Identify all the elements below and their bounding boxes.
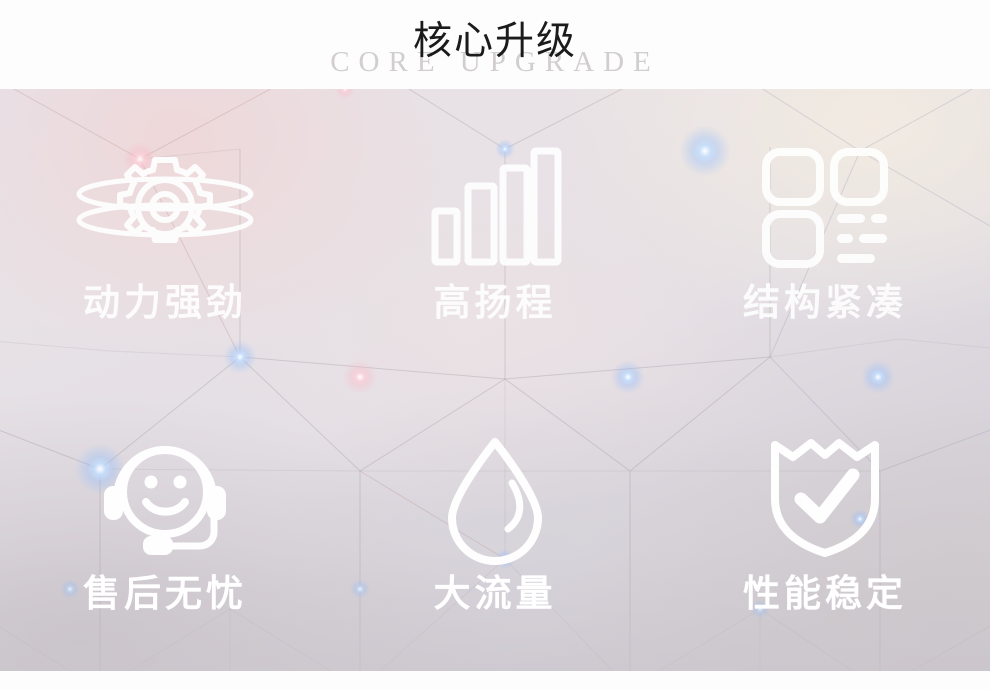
feature-item-compact[interactable]: 结构紧凑 [660,89,990,380]
shield-check-icon [767,439,883,557]
feature-item-power[interactable]: 动力强劲 [0,89,330,380]
bar-chart-icon [430,148,560,266]
bottom-spacer [0,671,990,689]
gear-orbit-icon [74,148,256,266]
feature-label: 结构紧凑 [743,284,907,321]
feature-label: 高扬程 [434,284,557,321]
feature-label: 性能稳定 [743,575,907,612]
title-stack: CORE UPGRADE 核心升级 [0,0,990,89]
water-drop-icon [444,439,546,557]
feature-label: 大流量 [434,575,557,612]
core-upgrade-banner: CORE UPGRADE 核心升级 [0,0,990,689]
feature-item-stable[interactable]: 性能稳定 [660,380,990,671]
feature-panel: 动力强劲 高扬程 [0,89,990,671]
feature-grid: 动力强劲 高扬程 [0,89,990,671]
layout-grid-icon [761,148,889,266]
feature-item-flow[interactable]: 大流量 [330,380,660,671]
banner-header: CORE UPGRADE 核心升级 [0,0,990,89]
feature-label: 动力强劲 [83,284,247,321]
feature-item-aftersales[interactable]: 售后无忧 [0,380,330,671]
feature-item-head[interactable]: 高扬程 [330,89,660,380]
feature-label: 售后无忧 [83,575,247,612]
headset-smile-icon [99,439,231,557]
page-title: 核心升级 [0,22,990,61]
